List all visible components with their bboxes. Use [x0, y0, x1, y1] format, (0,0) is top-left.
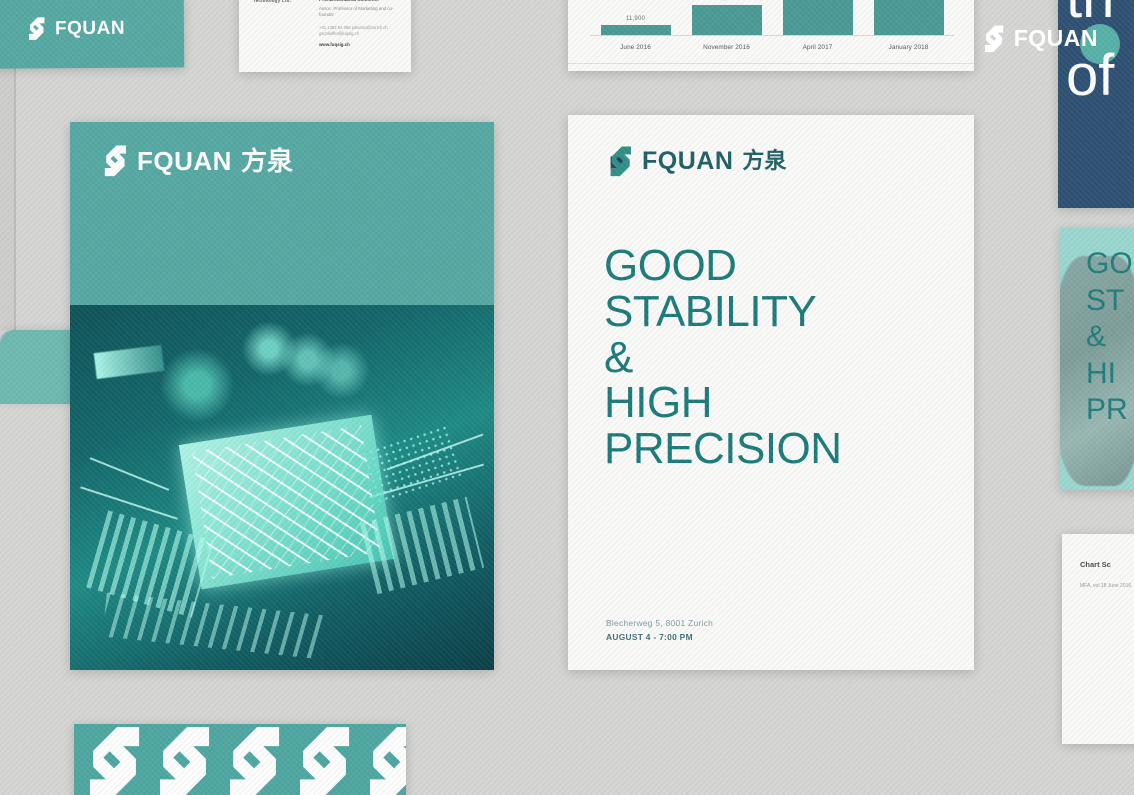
- teal-notebook: FQUAN: [0, 330, 430, 404]
- branding-mockup-canvas: FQUAN Technology Ltd. Prof.Dr.Johanna Sc…: [0, 0, 1134, 795]
- notebook-texture: [0, 330, 430, 404]
